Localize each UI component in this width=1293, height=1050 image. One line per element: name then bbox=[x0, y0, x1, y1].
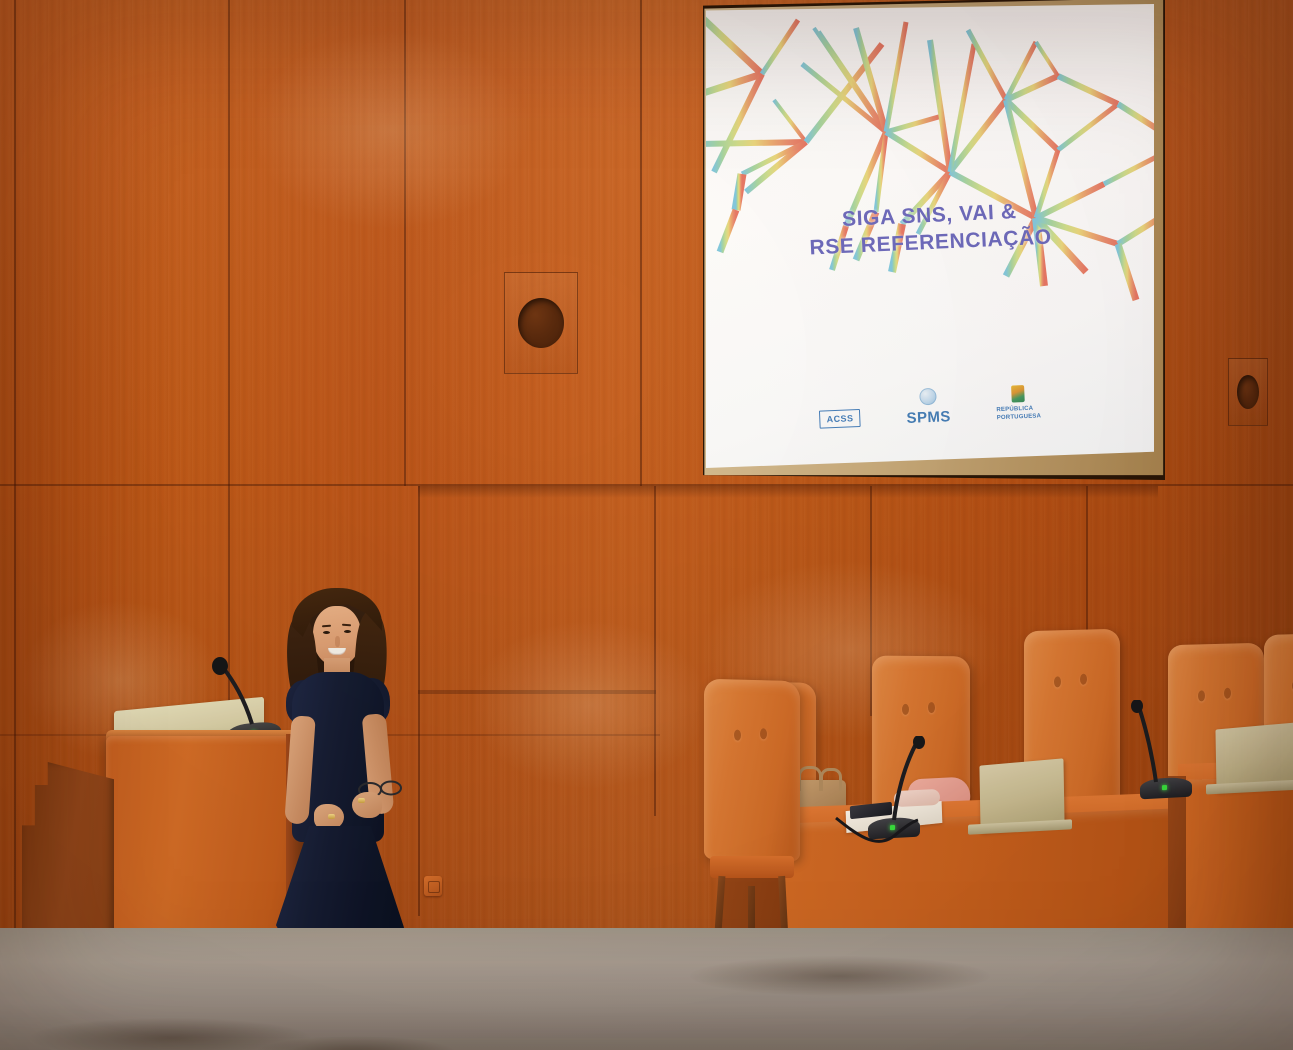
podium-shadow bbox=[30, 1018, 310, 1050]
spms-globe-icon bbox=[919, 388, 937, 406]
spms-logo: SPMS bbox=[905, 387, 951, 432]
wall-vent-left-icon bbox=[504, 272, 578, 374]
wall-recess-shadow bbox=[418, 486, 1158, 498]
projection-screen: SIGA SNS, VAI & RSE REFERENCIAÇÃO ACSS S… bbox=[706, 4, 1154, 468]
wall-seam bbox=[640, 0, 642, 486]
wall-seam bbox=[654, 486, 656, 816]
microphone-stem bbox=[1130, 700, 1180, 790]
chair-seat bbox=[710, 856, 794, 878]
rp-shield-icon bbox=[1011, 385, 1025, 403]
acss-logo: ACSS bbox=[819, 409, 861, 436]
podium-microphone-stem bbox=[190, 654, 270, 734]
wall-vent-right-icon bbox=[1228, 358, 1268, 426]
presenter-hand-right bbox=[352, 792, 382, 818]
microphone-cable bbox=[832, 812, 922, 854]
bench-shadow bbox=[690, 956, 990, 996]
wall-seam bbox=[418, 690, 656, 694]
presenter-skirt bbox=[276, 826, 404, 944]
conference-room-photo: SIGA SNS, VAI & RSE REFERENCIAÇÃO ACSS S… bbox=[0, 0, 1293, 1050]
panel-chair bbox=[704, 679, 800, 862]
wall-seam bbox=[404, 0, 406, 486]
wall-seam bbox=[14, 0, 16, 960]
republica-portuguesa-logo: REPÚBLICAPORTUGUESA bbox=[995, 384, 1041, 428]
presenter-face bbox=[313, 606, 361, 666]
